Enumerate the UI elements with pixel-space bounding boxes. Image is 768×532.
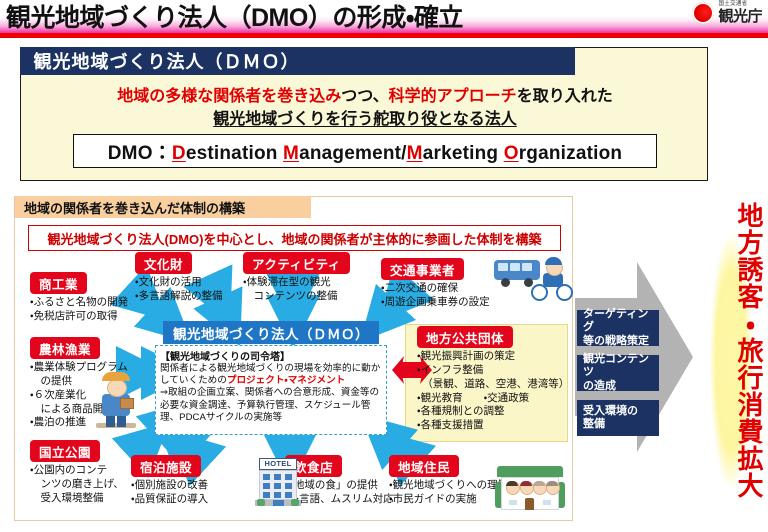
bullet: ・観光教育 ・交通政策 [417,392,569,406]
acronym-word-management: anagement/ [299,143,407,164]
node-residents-bullets: ・観光地域づくりへの理解 ・市民ガイドの実施 [389,479,508,507]
bullet: ・多言語、ムスリム対応 [285,493,394,507]
outcome-step-1-line-2: 等の戦略策定 [583,335,649,347]
bullet: ・多言語解説の整備 [135,290,223,304]
bullet: ・体験滞在型の観光 [243,276,350,290]
bullet: ・個別施設の改善 [131,479,208,493]
outcome-step-2-label: 観光コンテンツの造成 [583,353,659,393]
bullet: ・周遊企画乗車券の設定 [381,296,490,310]
center-dmo-paragraph-b: ⇒取組の企画立案、関係者への合意形成、資金等の必要な資金調達、予算執行管理、スケ… [160,387,382,424]
outcome-vertical-text: 地方誘客・旅行消費拡大 [700,202,762,520]
node-activity: アクティビティ ・体験滞在型の観光 コンテンツの整備 [243,252,350,304]
logo-text: 国土交通省 観光庁 [718,2,762,24]
definition-line-1: 地域の多様な関係者を巻き込みつつ、科学的アプローチを取り入れた [21,82,709,106]
bullet: ・各種支援措置 [417,419,569,433]
acronym-word-organization: rganization [519,143,623,164]
acronym-letter-d: D [172,143,186,164]
outcome-step-1-line-1: ターゲティング [583,308,648,333]
acronym-letter-m1: M [283,143,299,164]
bullet: 受入環境整備 [30,492,124,506]
bullet: ・「地域の食」の提供 [285,479,394,493]
agency-name: 観光庁 [718,9,762,24]
diagram-red-banner: 観光地域づくり法人(DMO)を中心とし、地域の関係者が主体的に参画した体制を構築 [28,225,561,251]
definition-title-label: 観光地域づくり法人（ＤＭＯ） [20,48,300,74]
node-lodging-bullets: ・個別施設の改善 ・品質保証の導入 [131,479,208,507]
farmer-hat-icon [102,372,130,381]
node-localgov-bullets: ・観光振興計画の策定 ・インフラ整備 （景観、道路、空港、港湾等） ・観光教育 … [417,350,569,433]
bullet: ・公園内のコンテ [30,464,124,478]
farmer-head-icon [107,379,127,397]
produce-box-icon [120,398,134,409]
definition-line1-black-b: を取り入れた [517,88,613,105]
bullet: ・市民ガイドの実施 [389,493,508,507]
node-nationalpark: 国立公園 ・公園内のコンテ ンツの磨き上げ、 受入環境整備 [30,440,124,506]
node-culture: 文化財 ・文化財の活用 ・多言語解説の整備 [135,252,223,304]
node-localgov: 地方公共団体 ・観光振興計画の策定 ・インフラ整備 （景観、道路、空港、港湾等）… [417,326,569,433]
definition-title-bar: 観光地域づくり法人（ＤＭＯ） [20,47,575,75]
outcome-step-3-label: 受入環境の整備 [583,405,638,431]
definition-line1-black-a: つつ、 [341,88,388,105]
node-activity-tag: アクティビティ [243,252,350,274]
soil-icon [96,423,136,428]
ministry-name: 国土交通省 [718,2,762,8]
center-dmo-subtitle: 【観光地域づくりの司令塔】 [160,348,382,363]
node-localgov-tag: 地方公共団体 [417,326,513,348]
bullet: ・文化財の活用 [135,276,223,290]
outcome-panel: ターゲティング等の戦略策定 観光コンテンツの造成 受入環境の整備 [575,250,695,465]
farmer-illustration [96,372,136,428]
acronym-word-destination: estination [186,143,283,164]
outcome-step-3-line-2: 整備 [583,418,605,430]
bullet: ンツの磨き上げ、 [30,478,124,492]
slide-root: 観光地域づくり法人（DMO）の形成・確立 国土交通省 観光庁 観光地域づくり法人… [0,0,768,532]
center-dmo-box: 観光地域づくり法人（ＤＭＯ） 【観光地域づくりの司令塔】 関係者による観光地域づ… [155,321,387,435]
node-restaurant: 飲食店 ・「地域の食」の提供 ・多言語、ムスリム対応 [285,455,394,507]
cyclist-illustration [530,256,576,302]
acronym-word-marketing: arketing [423,143,504,164]
bullet: ・ふるさと名物の開発 [30,296,128,310]
outcome-vertical-block: 地方誘客・旅行消費拡大 [700,196,762,526]
bullet: ・二次交通の確保 [381,282,490,296]
residents-house-illustration [497,466,563,510]
node-residents: 地域住民 ・観光地域づくりへの理解 ・市民ガイドの実施 [389,455,508,507]
definition-line1-red-b: 科学的アプローチ [389,88,517,105]
node-restaurant-bullets: ・「地域の食」の提供 ・多言語、ムスリム対応 [285,479,394,507]
node-activity-bullets: ・体験滞在型の観光 コンテンツの整備 [243,276,350,304]
center-dmo-header: 観光地域づくり法人（ＤＭＯ） [163,321,379,344]
center-dmo-body: 【観光地域づくりの司令塔】 関係者による観光地域づくりの現場を効率的に動かしてい… [155,345,387,435]
node-nationalpark-tag: 国立公園 [30,440,100,462]
diagram-section-tab: 地域の関係者を巻き込んだ体制の構築 [15,196,311,218]
sun-circle-icon [692,2,714,24]
bullet: コンテンツの整備 [243,290,350,304]
node-culture-bullets: ・文化財の活用 ・多言語解説の整備 [135,276,223,304]
acronym-text: DMO：Destination Management/Marketing Org… [108,138,622,165]
center-dmo-highlight: プロジェクト・マネジメント [227,375,345,386]
bullet: ・インフラ整備 [417,364,569,378]
bullet: ・観光地域づくりへの理解 [389,479,508,493]
bullet: ・各種規制との調整 [417,405,569,419]
definition-line-2: 観光地域づくりを行う舵取り役となる法人 [21,105,709,129]
node-agriculture-tag: 農林漁業 [30,337,100,359]
hotel-sign-icon: HOTEL [259,458,297,470]
node-commerce-bullets: ・ふるさと名物の開発 ・免税店許可の取得 [30,296,128,324]
bullet: （景観、道路、空港、港湾等） [417,378,569,392]
node-lodging-tag: 宿泊施設 [131,455,201,477]
outcome-step-3-line-1: 受入環境の [583,405,638,417]
outcome-step-3: 受入環境の整備 [577,400,659,436]
node-lodging: 宿泊施設 ・個別施設の改善 ・品質保証の導入 [131,455,208,507]
acronym-letter-o: O [504,143,519,164]
page-title: 観光地域づくり法人（DMO）の形成・確立 [6,0,463,34]
node-culture-tag: 文化財 [135,252,192,274]
outcome-step-2-line-1: 観光コンテンツ [583,353,649,378]
hotel-illustration: HOTEL [255,458,301,506]
cyclist-helmet-icon [545,257,562,265]
outcome-step-2-line-2: の造成 [583,380,616,392]
node-transport-tag: 交通事業者 [381,258,464,280]
acronym-box: DMO：Destination Management/Marketing Org… [73,134,657,168]
definition-line2-text: 観光地域づくりを行う舵取り役となる法人 [213,111,517,128]
diagram-red-banner-label: 観光地域づくり法人(DMO)を中心とし、地域の関係者が主体的に参画した体制を構築 [48,229,542,248]
outcome-step-1: ターゲティング等の戦略策定 [577,310,659,346]
outcome-step-1-label: ターゲティング等の戦略策定 [583,308,659,348]
center-dmo-header-label: 観光地域づくり法人（ＤＭＯ） [173,323,369,343]
diagram-section-label: 地域の関係者を巻き込んだ体制の構築 [15,198,245,217]
house-roof-icon [497,466,563,477]
node-nationalpark-bullets: ・公園内のコンテ ンツの磨き上げ、 受入環境整備 [30,464,124,506]
bullet: ・観光振興計画の策定 [417,350,569,364]
bullet: ・品質保証の導入 [131,493,208,507]
outcome-step-2: 観光コンテンツの造成 [577,355,659,391]
dmo-definition-panel: 観光地域づくり法人（ＤＭＯ） 地域の多様な関係者を巻き込みつつ、科学的アプローチ… [20,47,708,181]
acronym-prefix: DMO： [108,143,172,164]
slide-header: 観光地域づくり法人（DMO）の形成・確立 国土交通省 観光庁 [0,0,768,40]
center-dmo-paragraph-a: 関係者による観光地域づくりの現場を効率的に動かしていくためのプロジェクト・マネジ… [160,363,382,387]
agency-logo: 国土交通省 観光庁 [692,2,762,24]
definition-line1-red-a: 地域の多様な関係者を巻き込み [117,88,341,105]
node-transport: 交通事業者 ・二次交通の確保 ・周遊企画乗車券の設定 [381,258,490,310]
acronym-letter-m2: M [407,143,423,164]
bullet: ・免税店許可の取得 [30,310,128,324]
node-transport-bullets: ・二次交通の確保 ・周遊企画乗車券の設定 [381,282,490,310]
node-commerce: 商工業 ・ふるさと名物の開発 ・免税店許可の取得 [30,272,128,324]
node-residents-tag: 地域住民 [389,455,459,477]
node-commerce-tag: 商工業 [30,272,87,294]
